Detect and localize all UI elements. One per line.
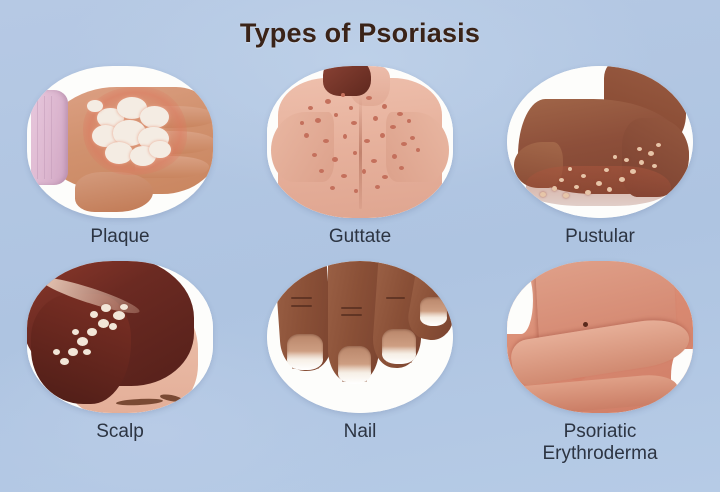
label-nail: Nail [240, 421, 480, 443]
nail-crumbling-middle [338, 364, 371, 384]
illustration-plaque [27, 66, 213, 218]
illustration-guttate [267, 66, 453, 218]
hair [323, 66, 371, 96]
backdrop-gap-left [507, 267, 533, 334]
nail-crumbling-little [420, 311, 448, 326]
nail-oval-frame [267, 261, 453, 413]
sole-inflammation [526, 166, 671, 206]
card-guttate[interactable]: Guttate [240, 66, 480, 248]
plaque-artwork [27, 66, 213, 218]
label-scalp: Scalp [0, 421, 240, 443]
label-pustular: Pustular [480, 226, 720, 248]
guttate-oval-frame [267, 66, 453, 218]
sleeve-cuff [31, 90, 68, 184]
scalp-artwork [27, 261, 213, 413]
pustular-oval-frame [507, 66, 693, 218]
scalp-oval-frame [27, 261, 213, 413]
card-scalp[interactable]: Scalp [0, 261, 240, 443]
card-nail[interactable]: Nail [240, 261, 480, 443]
label-erythroderma-line2: Erythroderma [480, 443, 720, 465]
illustration-scalp [27, 261, 213, 413]
label-scalp-line1: Scalp [96, 421, 144, 442]
page-title: Types of Psoriasis [0, 18, 720, 49]
nail-crumbling-ring [382, 346, 415, 364]
erythroderma-oval-frame [507, 261, 693, 413]
erythroderma-artwork [507, 261, 693, 413]
plaque-scale-cluster [90, 93, 179, 172]
label-nail-line1: Nail [344, 421, 377, 442]
knuckle-crease-4 [341, 314, 361, 316]
nail-ring [382, 329, 415, 364]
plaque-oval-frame [27, 66, 213, 218]
card-psoriatic-erythroderma[interactable]: Psoriatic Erythroderma [480, 261, 720, 466]
spine-line [359, 96, 362, 208]
label-psoriatic-erythroderma: Psoriatic Erythroderma [480, 421, 720, 466]
knuckle-crease-3 [341, 307, 361, 309]
card-pustular[interactable]: Pustular [480, 66, 720, 248]
knuckle-crease-2 [291, 305, 311, 307]
nail-little [420, 297, 448, 326]
nail-artwork [267, 261, 453, 413]
pustular-artwork [507, 66, 693, 218]
thumb [75, 172, 153, 212]
guttate-artwork [267, 66, 453, 218]
label-plaque: Plaque [0, 226, 240, 248]
label-erythroderma-line1: Psoriatic [564, 421, 637, 442]
illustration-psoriatic-erythroderma [507, 261, 693, 413]
illustration-nail [267, 261, 453, 413]
card-plaque[interactable]: Plaque [0, 66, 240, 248]
nail-crumbling-index [287, 351, 322, 370]
illustration-pustular [507, 66, 693, 218]
label-guttate-line1: Guttate [329, 226, 391, 247]
eyebrow-left [115, 398, 162, 407]
label-plaque-line1: Plaque [90, 226, 149, 247]
label-guttate: Guttate [240, 226, 480, 248]
psoriasis-types-grid: Plaque [0, 66, 720, 486]
nail-index [287, 334, 322, 370]
label-pustular-line1: Pustular [565, 226, 635, 247]
nail-middle [338, 346, 371, 384]
